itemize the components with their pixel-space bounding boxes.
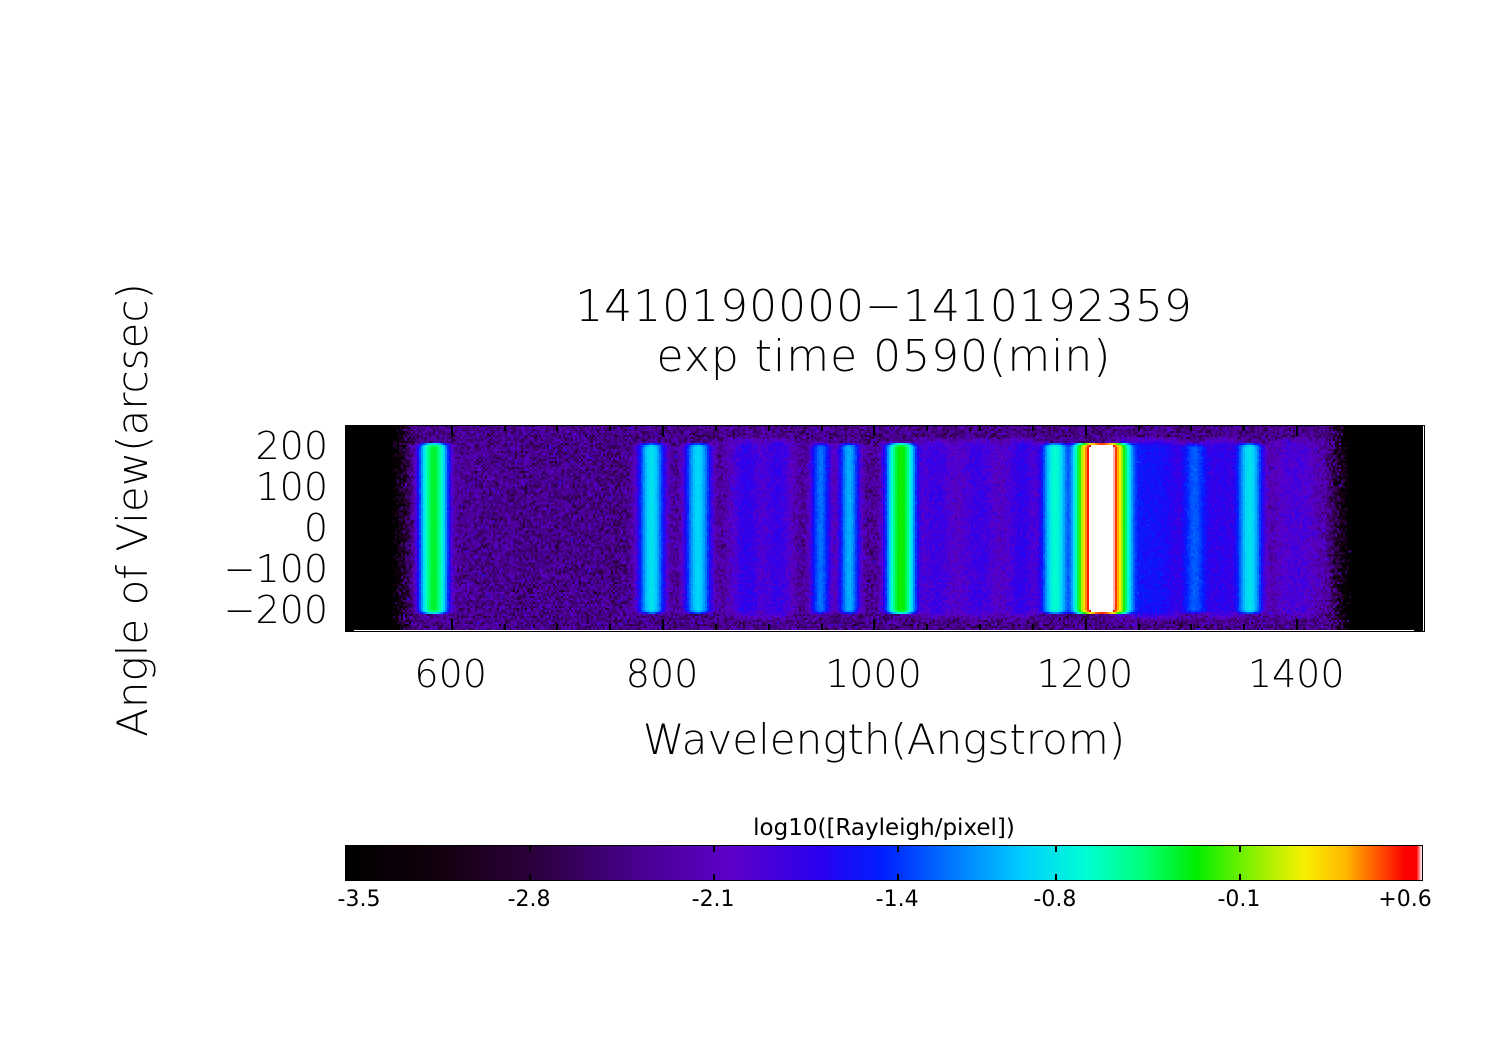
y-tick-label: 200 [255,427,328,465]
y-minor-tick-right [1414,425,1423,427]
title-line-2: exp time 0590(min) [345,332,1423,382]
x-minor-tick [1190,624,1192,630]
x-minor-tick-top [556,425,558,431]
x-minor-tick [1138,624,1140,630]
x-minor-tick-top [768,425,770,431]
y-minor-tick [345,581,354,583]
colorbar-tick-label: -2.1 [692,888,735,912]
x-minor-tick [556,624,558,630]
y-minor-tick-right [1414,622,1423,624]
y-minor-tick-right [1414,491,1423,493]
x-minor-tick-top [979,425,981,431]
chart-title: 1410190000−1410192359 exp time 0590(min) [345,282,1423,382]
y-minor-tick-right [1414,458,1423,460]
y-minor-tick-right [1414,450,1423,452]
y-minor-tick [345,491,354,493]
x-minor-tick-top [1032,425,1034,431]
y-minor-tick [345,458,354,460]
y-minor-tick [345,614,354,616]
y-minor-tick [345,450,354,452]
colorbar-tick-label: -1.4 [876,888,919,912]
x-minor-tick [926,624,928,630]
colorbar-tick-label: +0.6 [1378,888,1431,912]
colorbar-tick-label: -0.8 [1033,888,1076,912]
y-minor-tick-right [1414,589,1423,591]
x-minor-tick-top [715,425,717,431]
x-major-tick [1085,619,1087,630]
y-minor-tick-right [1414,523,1423,525]
y-minor-tick [345,425,354,427]
y-minor-tick-right [1414,499,1423,501]
y-tick-label: −200 [224,591,328,629]
y-minor-tick-right [1414,441,1423,443]
colorbar-tick-label: -2.8 [508,888,551,912]
y-minor-tick-right [1414,556,1423,558]
y-minor-tick [345,630,354,632]
y-minor-tick [345,507,354,509]
y-minor-tick [345,523,354,525]
y-minor-tick [345,548,354,550]
x-minor-tick-top [1402,425,1404,431]
x-minor-tick [1032,624,1034,630]
y-minor-tick [345,564,354,566]
x-tick-label: 1200 [1036,655,1133,693]
y-minor-tick [345,540,354,542]
y-minor-tick [345,589,354,591]
colorbar-tick-labels: -3.5-2.8-2.1-1.4-0.8-0.1+0.6 [345,888,1423,924]
x-minor-tick [609,624,611,630]
y-minor-tick [345,466,354,468]
y-tick-label: 100 [255,468,328,506]
x-minor-tick [1349,624,1351,630]
y-tick-label: 0 [304,509,328,547]
x-minor-tick [398,624,400,630]
y-minor-tick-right [1414,515,1423,517]
y-minor-tick [345,482,354,484]
colorbar [345,845,1423,881]
y-minor-tick [345,515,354,517]
x-minor-tick-top [1138,425,1140,431]
y-tick-label: −100 [224,550,328,588]
x-minor-tick-top [926,425,928,431]
x-minor-tick [821,624,823,630]
y-minor-tick [345,573,354,575]
y-minor-tick-right [1414,466,1423,468]
x-minor-tick-top [1349,425,1351,431]
colorbar-gradient [346,846,1422,880]
y-minor-tick-right [1414,474,1423,476]
x-tick-label: 800 [626,655,699,693]
x-major-tick [873,619,875,630]
x-minor-tick [504,624,506,630]
x-major-tick-top [873,425,875,436]
y-minor-tick [345,622,354,624]
y-minor-tick [345,499,354,501]
x-minor-tick-top [504,425,506,431]
x-minor-tick-top [398,425,400,431]
spectrogram-image [345,425,1423,630]
figure-root: 1410190000−1410192359 exp time 0590(min)… [0,0,1497,1058]
x-tick-label: 1000 [825,655,922,693]
y-minor-tick-right [1414,630,1423,632]
x-axis-title: Wavelength(Angstrom) [345,715,1423,764]
y-minor-tick-right [1414,540,1423,542]
x-major-tick [662,619,664,630]
x-tick-label: 600 [414,655,487,693]
y-minor-tick [345,532,354,534]
x-tick-label: 1400 [1248,655,1345,693]
y-minor-tick-right [1414,482,1423,484]
x-major-tick-top [1085,425,1087,436]
y-minor-tick [345,474,354,476]
x-major-tick [1296,619,1298,630]
y-minor-tick-right [1414,532,1423,534]
x-major-tick [451,619,453,630]
y-minor-tick-right [1414,614,1423,616]
y-minor-tick-right [1414,507,1423,509]
x-major-tick-top [662,425,664,436]
y-minor-tick [345,605,354,607]
y-minor-tick-right [1414,433,1423,435]
x-minor-tick [715,624,717,630]
y-minor-tick-right [1414,597,1423,599]
title-line-1: 1410190000−1410192359 [345,282,1423,332]
y-minor-tick [345,556,354,558]
y-minor-tick-right [1414,581,1423,583]
x-minor-tick [768,624,770,630]
x-minor-tick-top [609,425,611,431]
colorbar-tick-label: -3.5 [338,888,381,912]
x-minor-tick [1243,624,1245,630]
y-axis-title: Angle of View(arcsec) [108,230,157,790]
y-minor-tick-right [1414,548,1423,550]
x-minor-tick-top [1243,425,1245,431]
x-minor-tick-top [821,425,823,431]
x-major-tick-top [451,425,453,436]
y-minor-tick-right [1414,605,1423,607]
y-axis-tick-labels: 2001000−100−200 [150,425,328,630]
y-minor-tick [345,433,354,435]
y-minor-tick-right [1414,564,1423,566]
colorbar-tick-label: -0.1 [1217,888,1260,912]
y-minor-tick [345,441,354,443]
x-major-tick-top [1296,425,1298,436]
x-minor-tick [979,624,981,630]
spectrogram-panel [345,425,1423,630]
y-minor-tick-right [1414,573,1423,575]
x-minor-tick [1402,624,1404,630]
x-axis-tick-labels: 600800100012001400 [345,655,1423,705]
colorbar-title: log10([Rayleigh/pixel]) [345,815,1423,841]
y-minor-tick [345,597,354,599]
x-minor-tick-top [1190,425,1192,431]
